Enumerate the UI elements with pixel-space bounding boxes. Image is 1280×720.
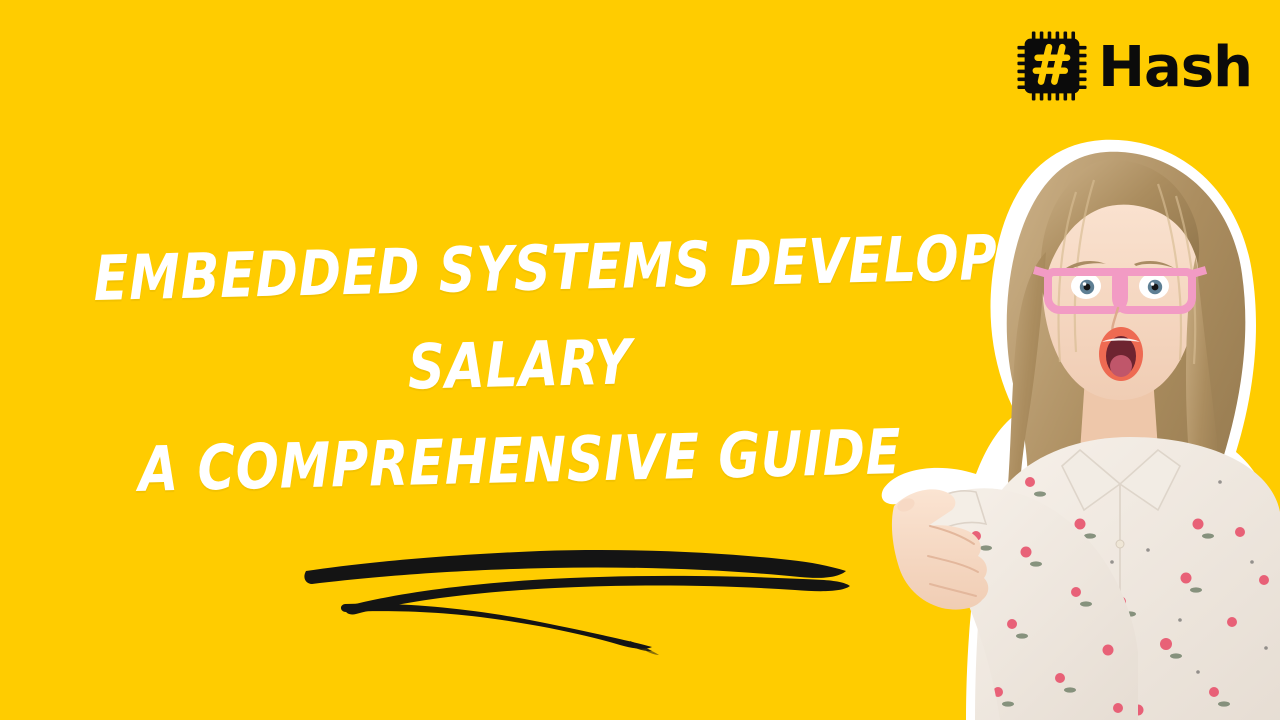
title-line-2: Salary — [93, 324, 947, 406]
banner-canvas: Hash Embedded Systems Developer Salary A… — [0, 0, 1280, 720]
brand-wordmark: Hash — [1098, 40, 1252, 96]
surprised-woman-pointing-photo — [880, 132, 1280, 720]
title-line-1: Embedded Systems Developer — [93, 228, 947, 310]
brush-stroke-underline — [290, 540, 860, 660]
open-mouth — [1099, 327, 1143, 381]
title-line-3: A Comprehensive Guide — [93, 420, 947, 502]
microchip-hash-icon — [1016, 30, 1088, 102]
brand-logo[interactable]: Hash — [1016, 30, 1252, 102]
